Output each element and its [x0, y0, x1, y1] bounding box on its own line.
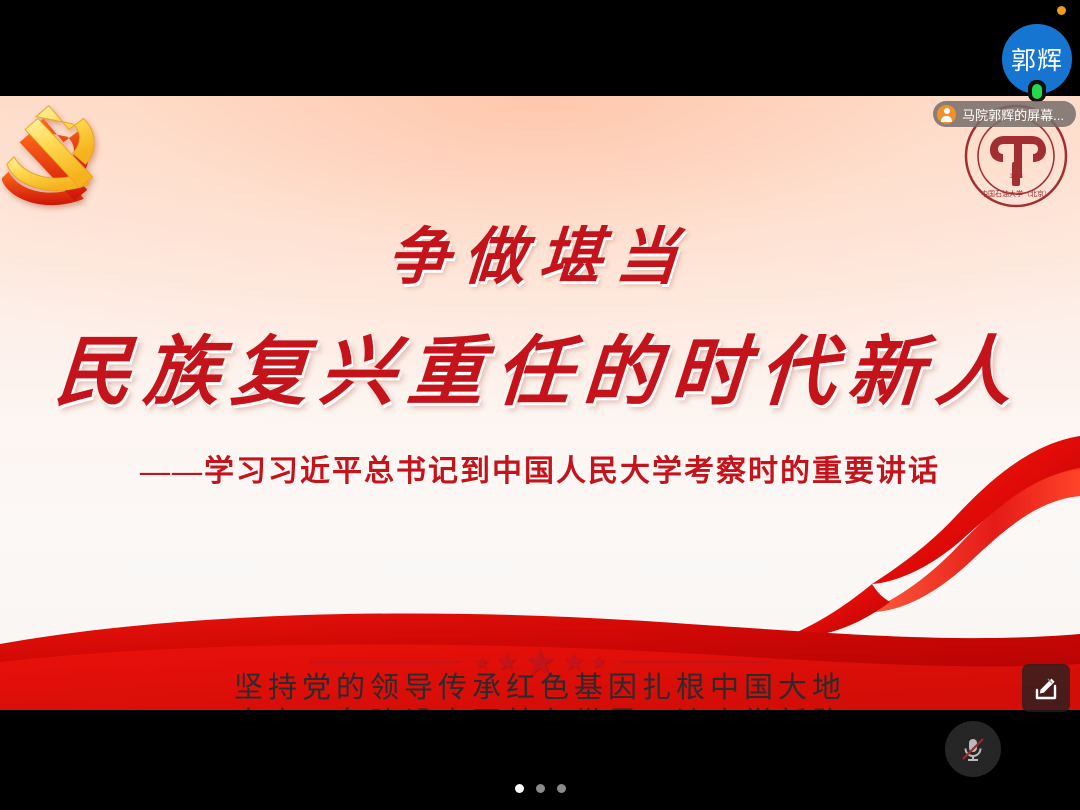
person-icon [937, 105, 956, 124]
avatar-initials: 郭辉 [1011, 41, 1063, 77]
page-dot-1[interactable] [515, 784, 524, 793]
shared-slide[interactable]: 中国石油大学（北京） 1953 [0, 96, 1080, 710]
pen-edit-icon [1032, 674, 1060, 702]
slogan-line-2: 走出一条建设中国特色世界一流大学新路 [0, 707, 1080, 710]
screen-share-viewer: 中国石油大学（北京） 1953 [0, 0, 1080, 810]
annotate-button[interactable] [1022, 664, 1070, 712]
status-indicator-dot [1057, 6, 1066, 15]
screen-share-label-text: 马院郭辉的屏幕... [962, 105, 1064, 124]
page-dot-3[interactable] [557, 784, 566, 793]
divider-line-right [620, 661, 770, 663]
microphone-active-badge-icon [1028, 80, 1046, 102]
slide-title-line1: 争做堪当 [0, 206, 1080, 296]
slide-title-line2: 民族复兴重任的时代新人 [0, 310, 1080, 420]
divider-line-left [310, 661, 460, 663]
slide-title-block: 争做堪当 民族复兴重任的时代新人 ——学习习近平总书记到中国人民大学考察时的重要… [0, 96, 1080, 490]
slogan-line-1: 坚持党的领导传承红色基因扎根中国大地 [0, 672, 1080, 704]
microphone-muted-icon [958, 734, 988, 764]
page-dot-2[interactable] [536, 784, 545, 793]
mute-microphone-button[interactable] [945, 721, 1001, 777]
slide-subtitle: ——学习习近平总书记到中国人民大学考察时的重要讲话 [0, 446, 1080, 490]
screen-share-label[interactable]: 马院郭辉的屏幕... [933, 101, 1076, 127]
page-indicator-dots[interactable] [0, 784, 1080, 793]
slide-slogan: 坚持党的领导传承红色基因扎根中国大地 走出一条建设中国特色世界一流大学新路 [0, 672, 1080, 710]
